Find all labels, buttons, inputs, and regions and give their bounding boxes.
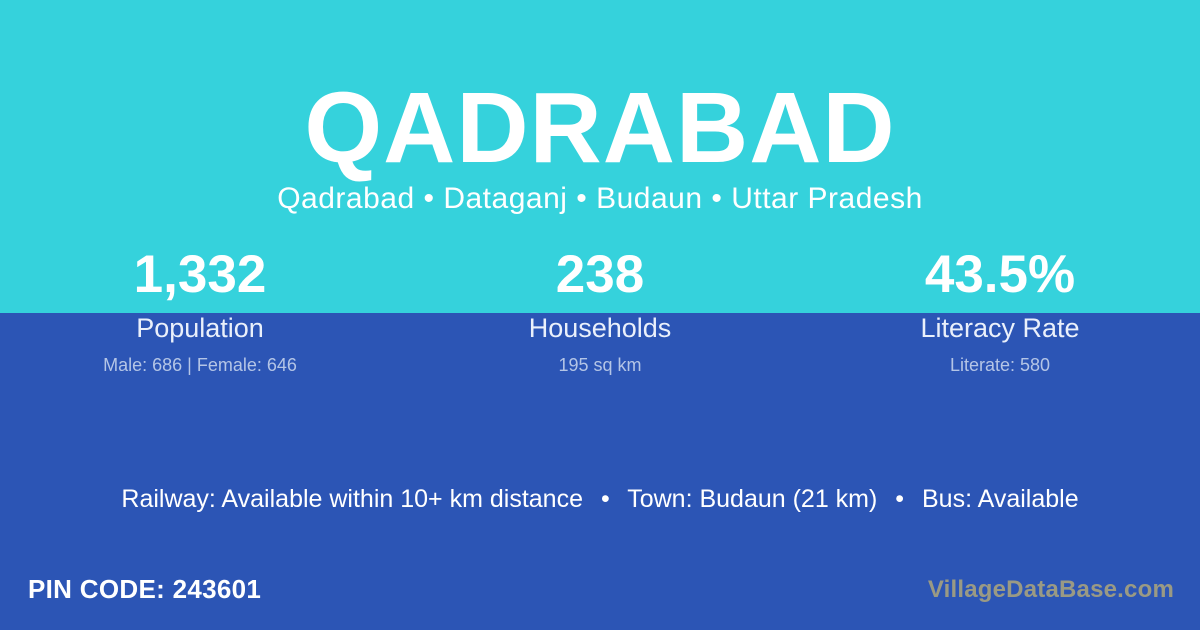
site-watermark: VillageDataBase.com: [928, 575, 1174, 605]
facility-separator: •: [590, 484, 621, 514]
stat-households: 238 Households 195 sq km: [400, 246, 800, 386]
stat-subtext: Male: 686 | Female: 646: [0, 354, 400, 376]
facility-separator: •: [884, 484, 915, 514]
page-title: QADRABAD: [0, 78, 1200, 178]
facility-railway: Railway: Available within 10+ km distanc…: [121, 485, 583, 513]
stat-literacy-rate: 43.5% Literacy Rate Literate: 580: [800, 246, 1200, 386]
stat-label: Literacy Rate: [800, 312, 1200, 344]
facilities-line: Railway: Available within 10+ km distanc…: [0, 484, 1200, 514]
village-info-card: QADRABAD Qadrabad • Dataganj • Budaun • …: [0, 0, 1200, 630]
stat-value: 1,332: [0, 246, 400, 308]
footer: PIN CODE: 243601 VillageDataBase.com: [0, 558, 1200, 630]
facility-town: Town: Budaun (21 km): [627, 485, 877, 513]
stat-value: 43.5%: [800, 246, 1200, 308]
stat-subtext: 195 sq km: [400, 354, 800, 376]
pin-code: PIN CODE: 243601: [28, 574, 261, 604]
stat-value: 238: [400, 246, 800, 308]
breadcrumb: Qadrabad • Dataganj • Budaun • Uttar Pra…: [0, 182, 1200, 216]
stat-label: Population: [0, 312, 400, 344]
stat-population: 1,332 Population Male: 686 | Female: 646: [0, 246, 400, 386]
stat-subtext: Literate: 580: [800, 354, 1200, 376]
stats-row: 1,332 Population Male: 686 | Female: 646…: [0, 246, 1200, 386]
facility-bus: Bus: Available: [922, 485, 1079, 513]
stat-label: Households: [400, 312, 800, 344]
